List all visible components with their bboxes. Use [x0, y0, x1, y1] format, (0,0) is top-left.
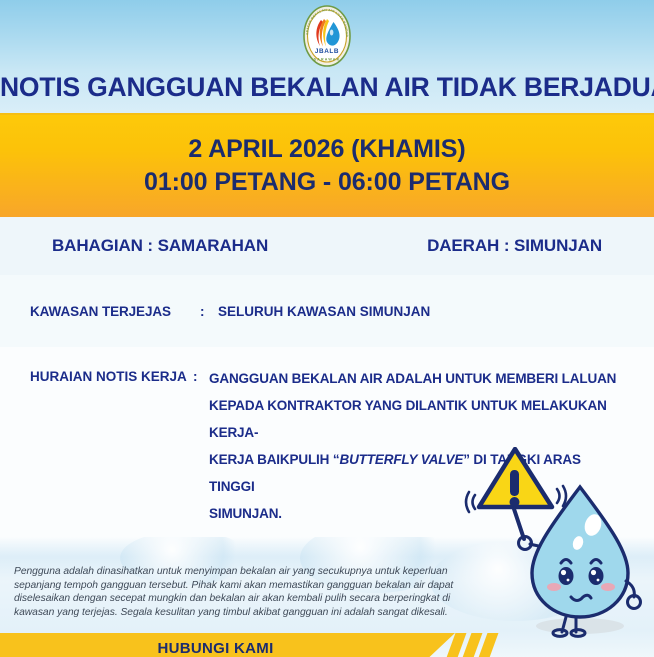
description-line-3-before: KERJA BAIKPULIH “ [209, 452, 339, 467]
division-label: BAHAGIAN : SAMARAHAN [52, 236, 268, 256]
affected-area-value: SELURUH KAWASAN SIMUNJAN [218, 304, 430, 319]
schedule-banner: 2 APRIL 2026 (KHAMIS) 01:00 PETANG - 06:… [0, 113, 654, 217]
butterfly-valve-term: BUTTERFLY VALVE [339, 452, 463, 467]
work-description-colon: : [193, 365, 209, 527]
affected-area-row: KAWASAN TERJEJAS : SELURUH KAWASAN SIMUN… [0, 275, 654, 347]
contact-banner-title: HUBUNGI KAMI [157, 640, 273, 657]
emblem-svg: JBALB SARAWAK JABATAN BEKALAN AIR LUAR B… [295, 4, 359, 68]
description-line-1: GANGGUAN BEKALAN AIR ADALAH UNTUK MEMBER… [209, 365, 624, 392]
contact-section: HUBUNGI KAMI CALL CENTRE JBALB SARAWAK 0… [0, 631, 654, 657]
water-disruption-notice-poster: JBALB SARAWAK JABATAN BEKALAN AIR LUAR B… [0, 0, 654, 657]
advisory-zone: Pengguna adalah dinasihatkan untuk menyi… [0, 537, 654, 631]
description-line-4: SIMUNJAN. [209, 500, 624, 527]
advisory-paragraph: Pengguna adalah dinasihatkan untuk menyi… [14, 565, 466, 619]
work-description-label: HURAIAN NOTIS KERJA [30, 365, 193, 527]
jbalb-sarawak-emblem-logo: JBALB SARAWAK JABATAN BEKALAN AIR LUAR B… [295, 4, 359, 68]
svg-text:SARAWAK: SARAWAK [314, 58, 341, 62]
disruption-date: 2 APRIL 2026 (KHAMIS) [188, 135, 465, 164]
description-line-2: KEPADA KONTRAKTOR YANG DILANTIK UNTUK ME… [209, 392, 624, 446]
work-description-section: HURAIAN NOTIS KERJA : GANGGUAN BEKALAN A… [0, 347, 654, 537]
affected-colon: : [200, 304, 218, 319]
district-label: DAERAH : SIMUNJAN [427, 236, 602, 256]
region-row: BAHAGIAN : SAMARAHAN DAERAH : SIMUNJAN [0, 217, 654, 275]
disruption-time: 01:00 PETANG - 06:00 PETANG [144, 168, 510, 197]
poster-header: JBALB SARAWAK JABATAN BEKALAN AIR LUAR B… [0, 0, 654, 113]
page-title: NOTIS GANGGUAN BEKALAN AIR TIDAK BERJADU… [0, 72, 654, 103]
work-description-body: GANGGUAN BEKALAN AIR ADALAH UNTUK MEMBER… [209, 365, 624, 527]
svg-text:JBALB: JBALB [315, 48, 339, 55]
affected-area-label: KAWASAN TERJEJAS [30, 304, 200, 319]
contact-banner: HUBUNGI KAMI [0, 633, 455, 657]
description-line-3: KERJA BAIKPULIH “BUTTERFLY VALVE” DI TAN… [209, 446, 624, 500]
